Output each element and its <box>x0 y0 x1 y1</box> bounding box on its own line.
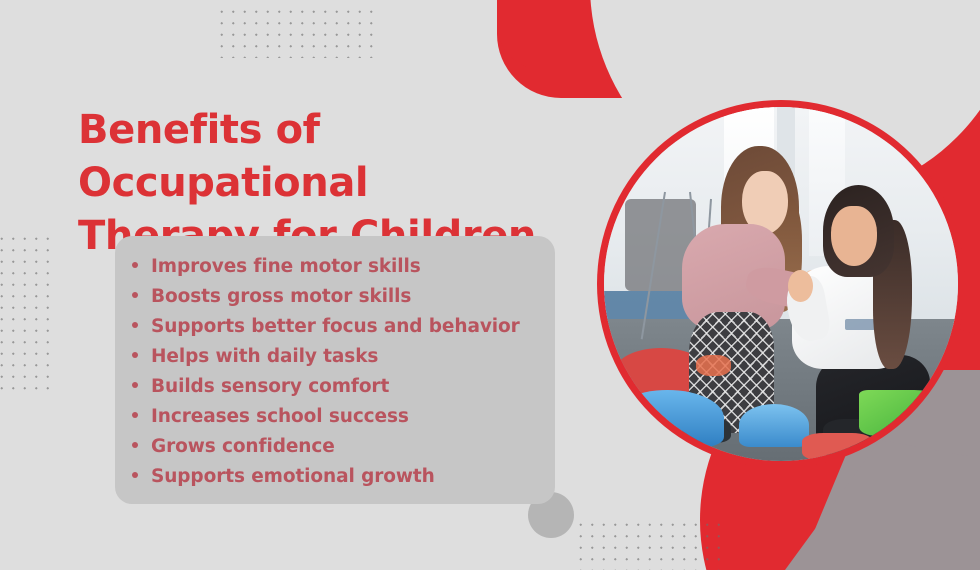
list-item: Supports emotional growth <box>132 466 552 496</box>
list-item-label: Builds sensory comfort <box>151 376 389 397</box>
list-item-label: Helps with daily tasks <box>151 346 378 367</box>
list-item: Supports better focus and behavior <box>132 316 552 346</box>
benefits-list: Improves fine motor skills Boosts gross … <box>132 256 552 496</box>
list-item: Increases school success <box>132 406 552 436</box>
list-item: Grows confidence <box>132 436 552 466</box>
bullet-dot-icon <box>132 442 138 448</box>
list-item: Boosts gross motor skills <box>132 286 552 316</box>
list-item-label: Supports better focus and behavior <box>151 316 520 337</box>
photo-therapist-face <box>831 206 877 266</box>
bullet-dot-icon <box>132 262 138 268</box>
photo-blue-balance-cone <box>739 404 810 446</box>
photo-green-prop <box>859 390 951 436</box>
slide-canvas: Benefits of Occupational Therapy for Chi… <box>0 0 980 570</box>
dot-grid-bottom-pattern <box>575 519 727 570</box>
list-item: Builds sensory comfort <box>132 376 552 406</box>
bullet-dot-icon <box>132 322 138 328</box>
photo-therapist-shirt-logo <box>845 319 877 330</box>
bullet-dot-icon <box>132 382 138 388</box>
list-item-label: Boosts gross motor skills <box>151 286 411 307</box>
list-item: Helps with daily tasks <box>132 346 552 376</box>
bullet-dot-icon <box>132 472 138 478</box>
list-item-label: Grows confidence <box>151 436 335 457</box>
list-item-label: Increases school success <box>151 406 409 427</box>
bullet-dot-icon <box>132 352 138 358</box>
bullet-dot-icon <box>132 292 138 298</box>
list-item-label: Supports emotional growth <box>151 466 435 487</box>
list-item-label: Improves fine motor skills <box>151 256 421 277</box>
dot-grid-top-pattern <box>216 6 374 58</box>
dot-grid-left-pattern <box>0 233 58 393</box>
list-item: Improves fine motor skills <box>132 256 552 286</box>
therapy-photo <box>604 107 958 461</box>
photo-orange-prop <box>696 355 731 376</box>
bullet-dot-icon <box>132 412 138 418</box>
photo-scene <box>604 107 958 461</box>
photo-therapist-hand <box>788 270 813 302</box>
page-title-line-1: Benefits of Occupational <box>78 107 368 206</box>
photo-red-prop <box>802 433 873 461</box>
photo-blue-balance-cone <box>611 390 724 447</box>
